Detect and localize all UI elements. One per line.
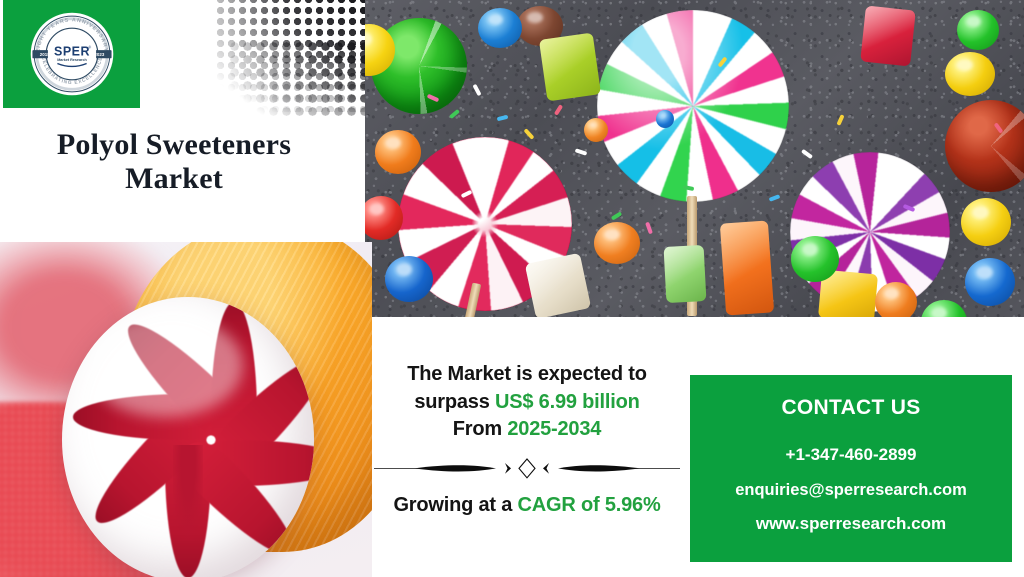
stat-line-2: surpass US$ 6.99 billion bbox=[378, 389, 676, 417]
lollipop-gloss bbox=[597, 10, 789, 202]
brand-logo-panel: EIGHT YEARS ANNIVERSARY CELEBRATING EXCE… bbox=[3, 0, 140, 108]
candy-peppermint-swirl bbox=[62, 297, 314, 577]
candy-blue-4 bbox=[656, 110, 674, 128]
badge-year-from: 2015 bbox=[39, 52, 49, 57]
candy-jelly-lime bbox=[539, 33, 601, 102]
candy-jelly-orange bbox=[720, 220, 774, 315]
candy-green-2 bbox=[957, 10, 999, 50]
ornamental-divider bbox=[374, 456, 680, 480]
stat-line-2-prefix: surpass bbox=[414, 391, 495, 413]
candy-orange-2 bbox=[594, 222, 640, 264]
infographic-canvas: EIGHT YEARS ANNIVERSARY CELEBRATING EXCE… bbox=[0, 0, 1024, 577]
hero-candy-photo bbox=[365, 0, 1024, 317]
page-title-line-1: Polyol Sweeteners bbox=[0, 128, 348, 162]
badge-brand-subtitle: Market Research bbox=[57, 58, 87, 62]
contact-website[interactable]: www.sperresearch.com bbox=[690, 515, 1012, 534]
cagr-value: CAGR of 5.96% bbox=[518, 494, 661, 516]
candy-orange-3 bbox=[875, 282, 917, 317]
contact-phone[interactable]: +1-347-460-2899 bbox=[690, 446, 1012, 465]
candy-blue-3 bbox=[965, 258, 1015, 306]
candy-yellow-1 bbox=[945, 52, 995, 96]
candy-lollipop-rainbow bbox=[597, 10, 789, 202]
candy-orange-4 bbox=[584, 118, 608, 142]
candy-blue-2 bbox=[385, 256, 433, 302]
candy-jelly-teal bbox=[664, 245, 707, 303]
candy-yellow-2 bbox=[961, 198, 1011, 246]
candy-orange-1 bbox=[375, 130, 421, 174]
candy-jelly-white bbox=[525, 253, 591, 317]
candy-blue-1 bbox=[478, 8, 522, 48]
contact-email[interactable]: enquiries@sperresearch.com bbox=[690, 481, 1012, 499]
page-title: Polyol Sweeteners Market bbox=[0, 128, 348, 196]
cagr-line: Growing at a CAGR of 5.96% bbox=[378, 494, 676, 517]
badge-registered-mark: ® bbox=[88, 45, 91, 49]
cagr-prefix: Growing at a bbox=[393, 494, 517, 516]
candy-jelly-red bbox=[860, 6, 916, 67]
peppermint-candy-photo bbox=[0, 242, 372, 577]
sper-anniversary-badge-icon: EIGHT YEARS ANNIVERSARY CELEBRATING EXCE… bbox=[29, 11, 115, 97]
market-value: US$ 6.99 billion bbox=[495, 391, 640, 413]
candy-green-1 bbox=[791, 236, 839, 282]
stat-line-3-prefix: From bbox=[453, 418, 508, 440]
halftone-dot-pattern-secondary bbox=[228, 40, 378, 120]
stat-line-1: The Market is expected to bbox=[378, 361, 676, 389]
contact-heading: CONTACT US bbox=[690, 396, 1012, 420]
page-title-line-2: Market bbox=[0, 162, 348, 196]
stat-line-3: From 2025-2034 bbox=[378, 416, 676, 444]
forecast-period: 2025-2034 bbox=[507, 418, 601, 440]
contact-panel: CONTACT US +1-347-460-2899 enquiries@spe… bbox=[690, 375, 1012, 562]
badge-year-to: 2023 bbox=[94, 52, 104, 57]
market-stats-block: The Market is expected to surpass US$ 6.… bbox=[378, 361, 676, 444]
badge-brand-name: SPER bbox=[53, 44, 89, 58]
